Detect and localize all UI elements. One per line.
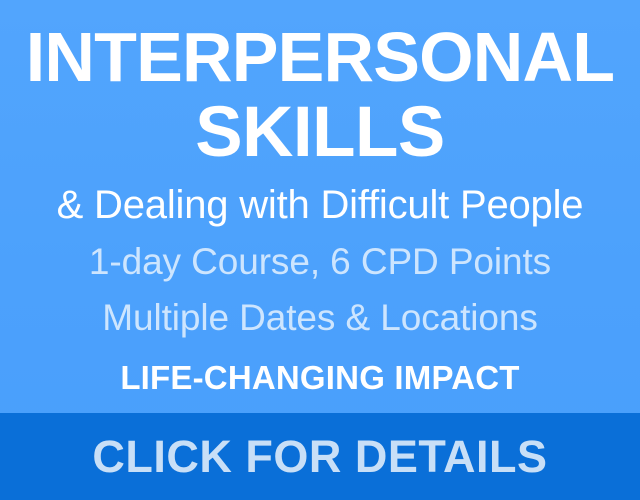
subheadline: & Dealing with Difficult People xyxy=(0,180,640,230)
detail-dates-locations: Multiple Dates & Locations xyxy=(0,290,640,346)
banner-copy-block: INTERPERSONAL SKILLS & Dealing with Diff… xyxy=(0,0,640,413)
impact-tagline: LIFE-CHANGING IMPACT xyxy=(0,356,640,400)
detail-course-duration: 1-day Course, 6 CPD Points xyxy=(0,234,640,290)
headline-line-1: INTERPERSONAL xyxy=(0,18,640,96)
headline-line-2: SKILLS xyxy=(0,94,640,172)
click-for-details-button[interactable]: CLICK FOR DETAILS xyxy=(0,413,640,500)
course-advertisement-banner: INTERPERSONAL SKILLS & Dealing with Diff… xyxy=(0,0,640,500)
cta-label: CLICK FOR DETAILS xyxy=(92,433,547,481)
